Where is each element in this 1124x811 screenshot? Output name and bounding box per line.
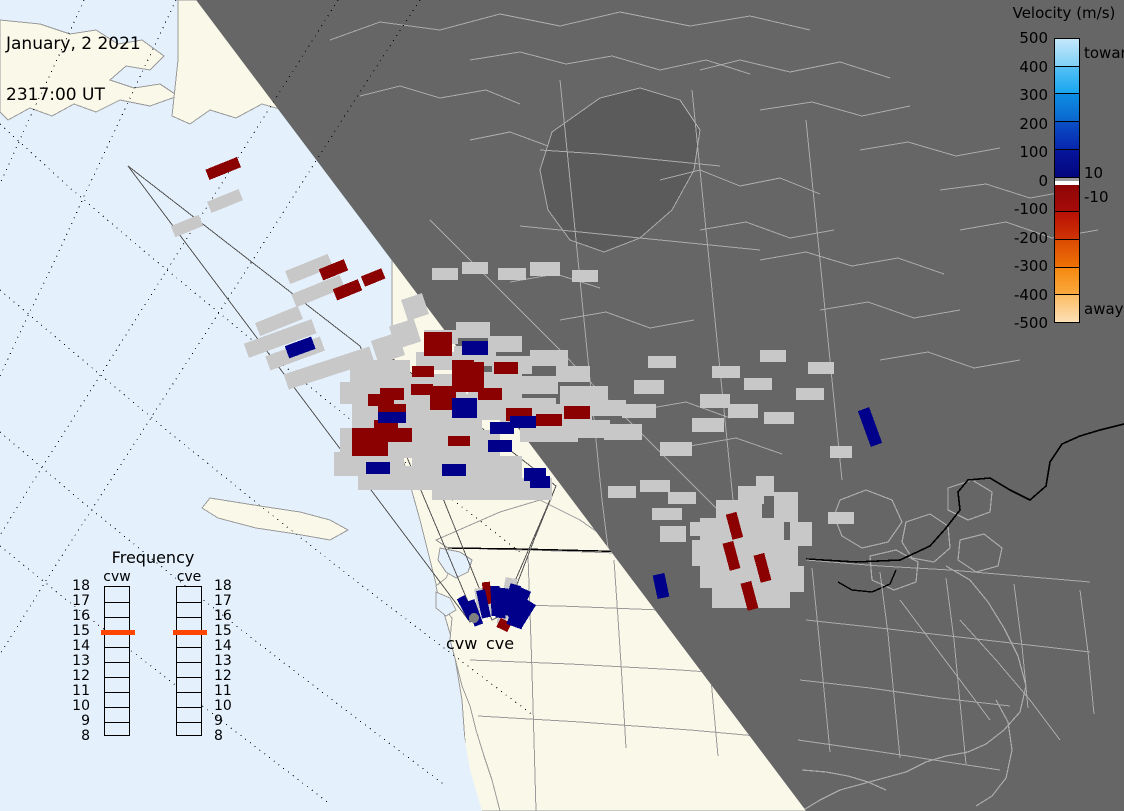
frequency-gauge-tick: [177, 677, 201, 678]
frequency-gauge-tick: [105, 677, 129, 678]
frequency-gauge-tick: [177, 692, 201, 693]
frequency-gauge-label: cvw: [94, 568, 140, 586]
frequency-scale-value-14: 14: [68, 640, 90, 652]
frequency-gauge-bar[interactable]: [104, 586, 130, 736]
frequency-scale-value-18: 18: [214, 580, 236, 592]
colorbar-tick--400: -400: [988, 286, 1048, 304]
frequency-gauge-tick: [105, 722, 129, 723]
colorbar-segment-400: [1055, 67, 1079, 95]
frequency-scale-value-17: 17: [68, 595, 90, 607]
frequency-scale-value-17: 17: [214, 595, 236, 607]
colorbar-toward-label: toward: [1084, 44, 1124, 62]
colorbar-segment--500: [1055, 295, 1079, 322]
frequency-gauge-cvw[interactable]: cvw 18171615141312111098: [94, 568, 140, 736]
colorbar-segment-500: [1055, 39, 1079, 67]
frequency-scale-value-15: 15: [68, 625, 90, 637]
frequency-gauge-marker: [173, 630, 207, 635]
colorbar-away-label: away: [1084, 300, 1124, 318]
frequency-scale-value-9: 9: [68, 715, 90, 727]
timestamp-overlay: January, 2 2021 2317:00 UT: [6, 2, 141, 138]
frequency-gauge-tick: [177, 662, 201, 663]
frequency-gauge-tick: [105, 707, 129, 708]
colorbar-segment--400: [1055, 268, 1079, 296]
colorbar-tick-100: 100: [988, 143, 1048, 161]
colorbar-segment-200: [1055, 122, 1079, 150]
colorbar-tick-0: 0: [988, 172, 1048, 190]
frequency-scale-value-12: 12: [68, 670, 90, 682]
frequency-scale-value-12: 12: [214, 670, 236, 682]
colorbar-segment-300: [1055, 94, 1079, 122]
colorbar-tick-300: 300: [988, 86, 1048, 104]
colorbar-positive-threshold-label: 10: [1084, 164, 1103, 182]
colorbar-segment--100: [1055, 185, 1079, 213]
frequency-scale-value-16: 16: [68, 610, 90, 622]
frequency-gauge-tick: [105, 662, 129, 663]
time-text: 2317:00 UT: [6, 87, 141, 104]
frequency-gauge-tick: [177, 707, 201, 708]
site-label-cvw: cvw: [446, 634, 477, 653]
colorbar-tick-500: 500: [988, 29, 1048, 47]
colorbar-title: Velocity (m/s): [1004, 4, 1124, 22]
colorbar-segment-100: [1055, 150, 1079, 178]
colorbar-tick--200: -200: [988, 229, 1048, 247]
frequency-legend-panel: Frequency cvw 18171615141312111098 cve 1…: [88, 548, 218, 798]
radar-site-marker: [469, 613, 479, 623]
frequency-scale-value-11: 11: [214, 685, 236, 697]
frequency-gauge-tick: [105, 647, 129, 648]
frequency-gauge-marker: [101, 630, 135, 635]
frequency-scale-value-14: 14: [214, 640, 236, 652]
frequency-scale-value-8: 8: [68, 730, 90, 742]
frequency-scale-value-11: 11: [68, 685, 90, 697]
site-label-cve: cve: [486, 634, 514, 653]
colorbar-segment--300: [1055, 240, 1079, 268]
frequency-scale-value-18: 18: [68, 580, 90, 592]
frequency-scale-value-8: 8: [214, 730, 236, 742]
colorbar-tick--300: -300: [988, 257, 1048, 275]
colorbar-tick-400: 400: [988, 58, 1048, 76]
colorbar-tick-200: 200: [988, 115, 1048, 133]
frequency-gauge-cve[interactable]: cve 18171615141312111098: [166, 568, 212, 736]
frequency-gauge-tick: [177, 617, 201, 618]
frequency-scale-value-16: 16: [214, 610, 236, 622]
frequency-scale-value-13: 13: [214, 655, 236, 667]
frequency-scale-value-10: 10: [68, 700, 90, 712]
frequency-scale-value-15: 15: [214, 625, 236, 637]
frequency-gauge-tick: [177, 602, 201, 603]
colorbar-tick--100: -100: [988, 200, 1048, 218]
colorbar-zero-band: [1055, 178, 1079, 185]
frequency-gauge-tick: [105, 617, 129, 618]
frequency-gauge-bar[interactable]: [176, 586, 202, 736]
frequency-gauge-tick: [105, 602, 129, 603]
colorbar-negative-threshold-label: -10: [1084, 188, 1109, 206]
frequency-scale-value-10: 10: [214, 700, 236, 712]
colorbar-segment--200: [1055, 212, 1079, 240]
frequency-scale-value-13: 13: [68, 655, 90, 667]
colorbar-tick--500: -500: [988, 314, 1048, 332]
frequency-gauge-tick: [105, 692, 129, 693]
superdarn-map-view: January, 2 2021 2317:00 UT Velocity (m/s…: [0, 0, 1124, 811]
frequency-gauge-tick: [177, 722, 201, 723]
frequency-title: Frequency: [88, 548, 218, 567]
velocity-colorbar-panel: Velocity (m/s) 5004003002001000-100-200-…: [1000, 0, 1124, 340]
frequency-scale-value-9: 9: [214, 715, 236, 727]
colorbar-gradient[interactable]: [1054, 38, 1080, 323]
frequency-gauge-label: cve: [166, 568, 212, 586]
frequency-gauge-tick: [177, 647, 201, 648]
date-text: January, 2 2021: [6, 36, 141, 53]
